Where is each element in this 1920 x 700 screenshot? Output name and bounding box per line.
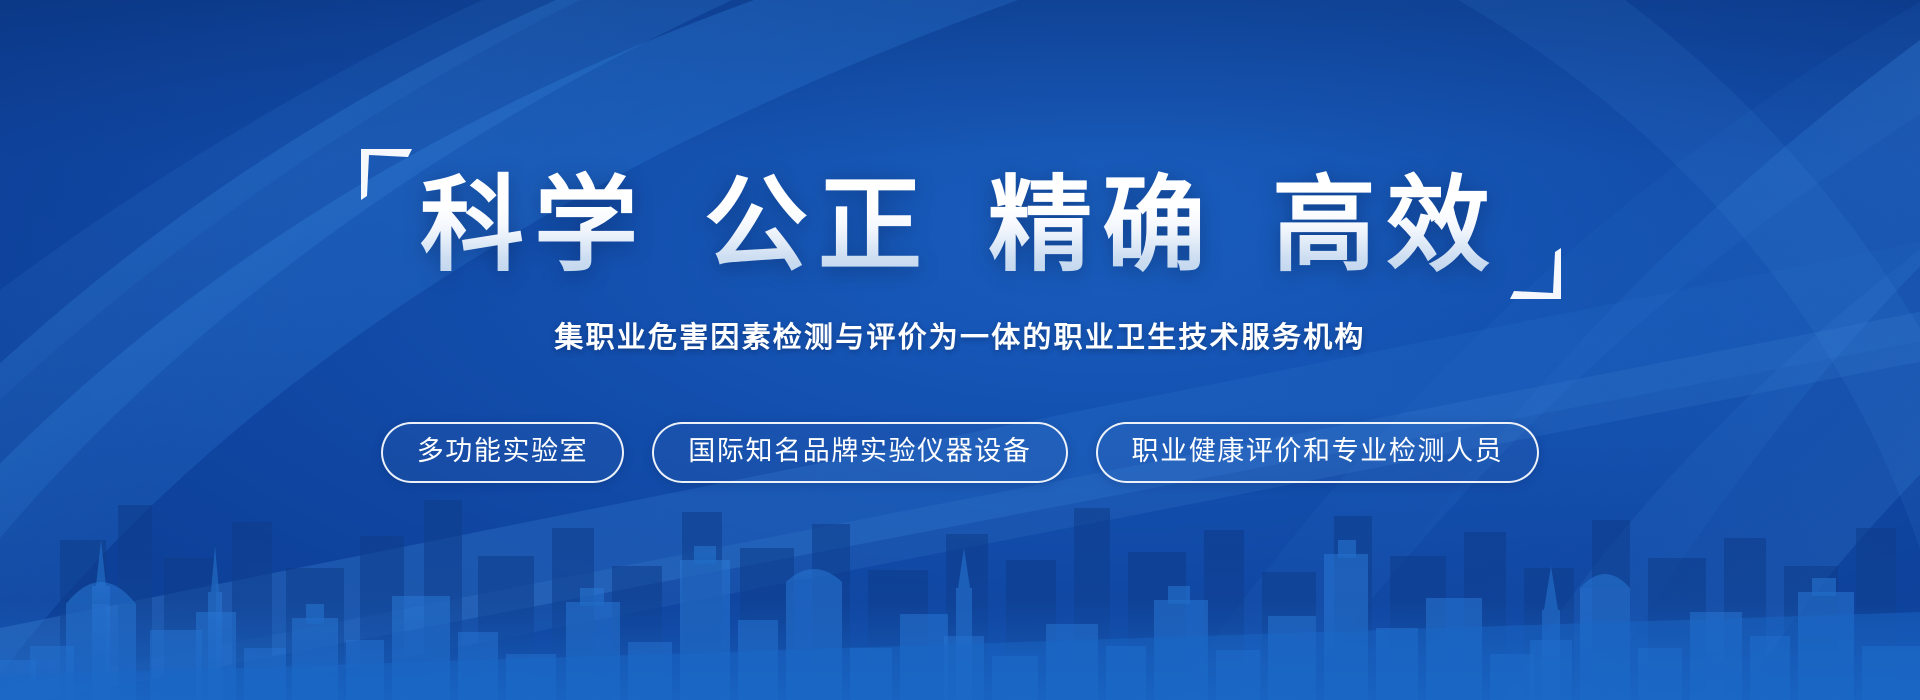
feature-pill-equipment[interactable]: 国际知名品牌实验仪器设备 bbox=[652, 422, 1067, 483]
banner-subtitle: 集职业危害因素检测与评价为一体的职业卫生技术服务机构 bbox=[554, 314, 1365, 356]
corner-bracket-close-icon bbox=[1508, 246, 1564, 302]
headline-word-4: 高效 bbox=[1272, 168, 1500, 284]
page-title: 科学 公正 精确 高效 bbox=[420, 168, 1500, 284]
corner-bracket-open-icon bbox=[358, 146, 414, 202]
headline-word-2: 公正 bbox=[704, 168, 932, 284]
feature-pill-list: 多功能实验室 国际知名品牌实验仪器设备 职业健康评价和专业检测人员 bbox=[381, 422, 1540, 483]
hero-banner: 科学 公正 精确 高效 集职业危害因素检测与评价为一体的职业卫生技术服务机构 多… bbox=[0, 0, 1920, 700]
banner-content: 科学 公正 精确 高效 集职业危害因素检测与评价为一体的职业卫生技术服务机构 多… bbox=[0, 0, 1920, 700]
headline-word-3: 精确 bbox=[988, 168, 1216, 284]
headline-word-1: 科学 bbox=[420, 168, 648, 284]
feature-pill-lab[interactable]: 多功能实验室 bbox=[381, 422, 625, 483]
feature-pill-personnel[interactable]: 职业健康评价和专业检测人员 bbox=[1096, 422, 1540, 483]
headline-block: 科学 公正 精确 高效 bbox=[358, 168, 1562, 284]
